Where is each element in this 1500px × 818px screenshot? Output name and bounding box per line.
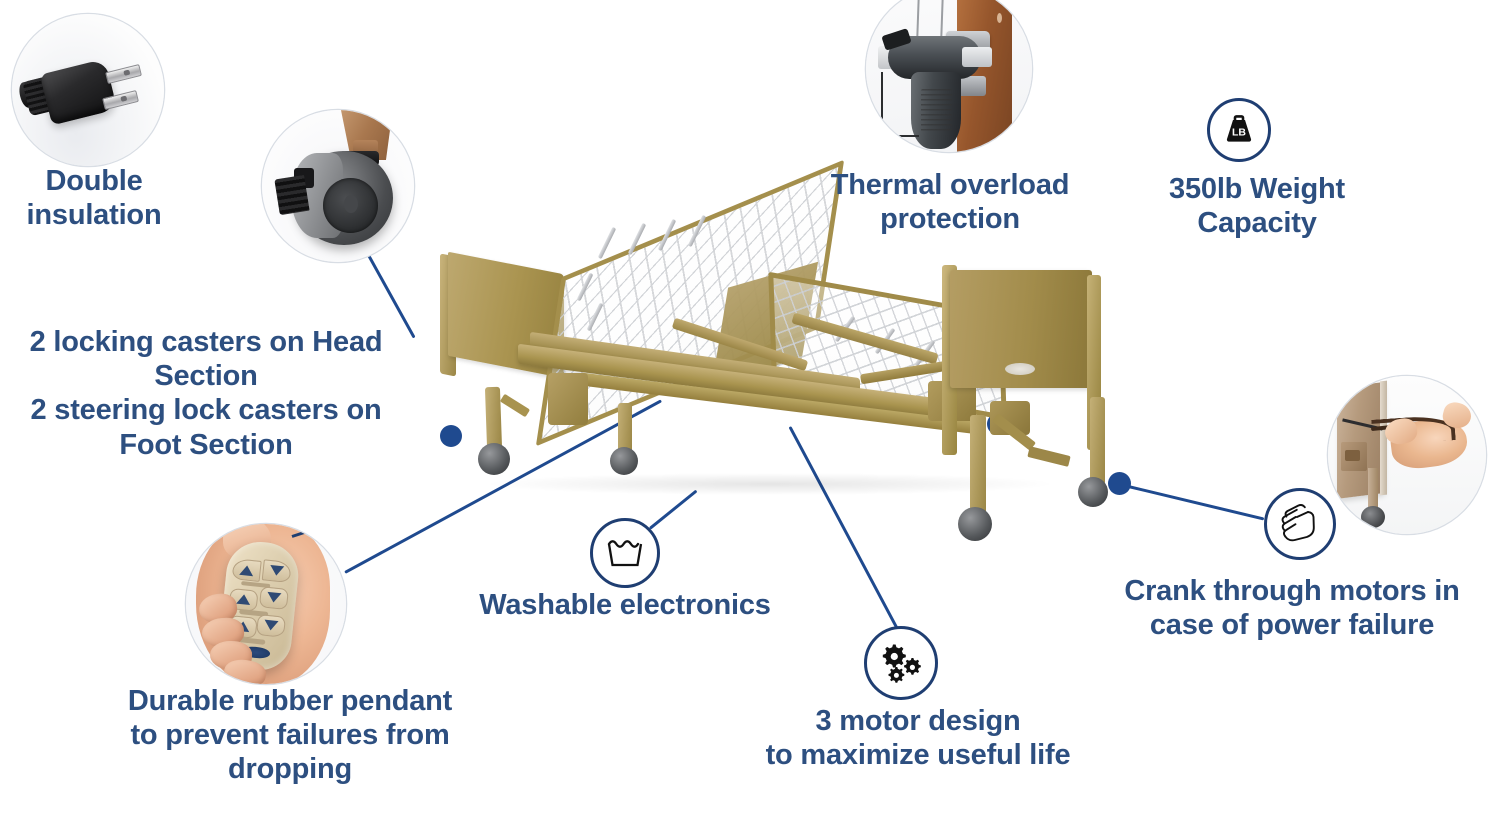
bed-floor-shadow <box>490 473 1050 495</box>
hospital-bed-illustration <box>430 215 1120 545</box>
bed-caster-foot-right <box>1078 477 1108 507</box>
motor-photo-inner <box>866 0 1032 152</box>
weight-icon-text: LB <box>1232 127 1246 139</box>
gears-icon <box>864 626 938 700</box>
plug-photo-inner <box>12 14 164 166</box>
bed-leg-foot-right <box>1090 397 1105 485</box>
hand-crank-photo <box>1328 376 1486 534</box>
pendant-photo-inner <box>186 524 346 684</box>
hand-glyph <box>1277 503 1323 545</box>
label-double-insulation: Double insulation <box>10 164 178 232</box>
label-three-motor-design: 3 motor design to maximize useful life <box>736 704 1100 772</box>
gears-glyph <box>878 641 924 685</box>
label-washable-electronics: Washable electronics <box>452 588 798 622</box>
crank-photo-inner <box>1328 376 1486 534</box>
bed-caster-foot-left <box>958 507 992 541</box>
bed-leg-brace <box>1027 446 1070 467</box>
power-plug-photo <box>12 14 164 166</box>
wash-tub-glyph <box>605 536 645 570</box>
hand-crank-icon <box>1264 488 1336 560</box>
infographic-canvas: Double insulation 2 locking casters on H… <box>0 0 1500 818</box>
bed-caster-head-left <box>478 443 510 475</box>
caster-wheel-photo <box>262 110 414 262</box>
weight-glyph: LB <box>1222 113 1256 147</box>
connector-line-crank <box>1120 483 1265 521</box>
bed-caster-head-right <box>610 447 638 475</box>
label-locking-casters: 2 locking casters on Head Section 2 stee… <box>6 325 406 462</box>
motor-photo <box>866 0 1032 152</box>
wash-tub-icon <box>590 518 660 588</box>
bed-leg-brace <box>500 394 530 418</box>
label-manual-crank: Crank through motors in case of power fa… <box>1096 574 1488 642</box>
weight-lb-icon: LB <box>1207 98 1271 162</box>
bed-leg-head-left <box>485 387 502 449</box>
caster-photo-inner <box>262 110 414 262</box>
hand-pendant-photo <box>186 524 346 684</box>
label-weight-capacity: 350lb Weight Capacity <box>1122 172 1392 240</box>
label-durable-pendant: Durable rubber pendant to prevent failur… <box>84 684 496 787</box>
label-thermal-overload: Thermal overload protection <box>780 168 1120 236</box>
bed-leg-foot-left <box>970 415 986 515</box>
brand-badge <box>1005 363 1035 375</box>
bed-head-motor-housing <box>548 373 588 425</box>
